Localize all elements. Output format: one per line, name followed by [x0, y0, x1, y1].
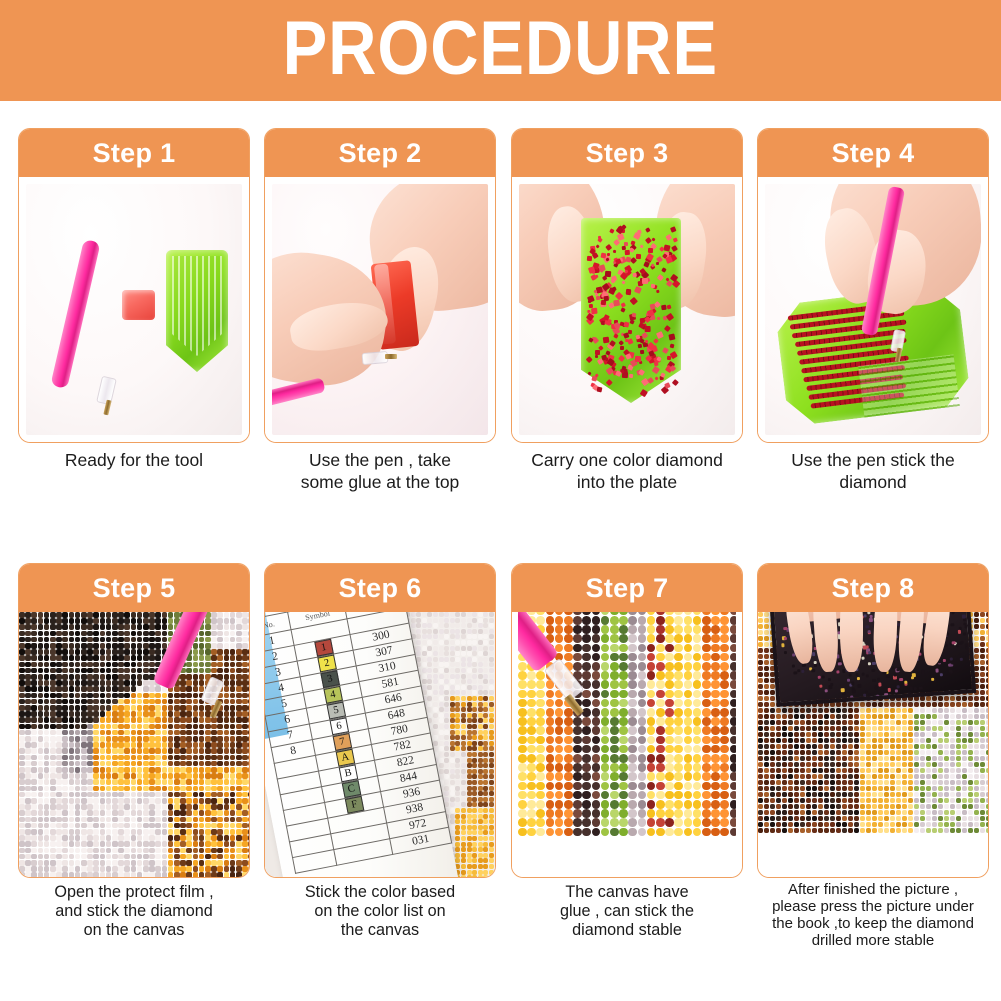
- diamond-bead: [555, 800, 564, 809]
- diamond-bead: [467, 780, 472, 785]
- diamond-bead: [546, 616, 555, 625]
- diamond-bead: [112, 637, 118, 643]
- diamond-bead: [69, 761, 75, 767]
- diamond-bead: [162, 742, 168, 748]
- diamond-bead: [478, 634, 483, 639]
- step-badge-label: Step 2: [339, 140, 422, 167]
- diamond-bead: [455, 797, 460, 802]
- diamond-bead: [143, 792, 149, 798]
- diamond-bead: [50, 693, 56, 699]
- diamond-bead: [44, 841, 50, 847]
- diamond-bead: [186, 748, 192, 754]
- diamond-bead: [87, 693, 93, 699]
- diamond-bead: [582, 625, 591, 634]
- diamond-bead: [174, 817, 180, 823]
- diamond-bead: [564, 634, 573, 643]
- diamond-bead: [106, 624, 112, 630]
- diamond-bead: [230, 866, 236, 872]
- diamond-bead: [720, 662, 729, 671]
- diamond-bead: [25, 860, 31, 866]
- diamond-bead: [472, 819, 477, 824]
- diamond-bead: [483, 707, 488, 712]
- diamond-bead: [50, 848, 56, 854]
- diamond-bead: [38, 848, 44, 854]
- diamond-bead: [472, 674, 477, 679]
- diamond-bead: [489, 724, 494, 729]
- diamond-bead: [112, 717, 118, 723]
- diamond-bead: [236, 693, 242, 699]
- diamond-bead: [472, 651, 477, 656]
- diamond-bead: [112, 612, 118, 618]
- diamond-bead: [433, 634, 438, 639]
- diamond-bead: [205, 631, 211, 637]
- diamond-bead: [149, 668, 155, 674]
- diamond-bead: [62, 637, 68, 643]
- diamond-bead: [665, 726, 674, 735]
- diamond-bead: [224, 711, 230, 717]
- diamond-bead: [106, 637, 112, 643]
- diamond-bead: [69, 823, 75, 829]
- diamond-bead: [155, 649, 161, 655]
- diamond-bead: [38, 786, 44, 792]
- diamond-bead: [38, 761, 44, 767]
- diamond-bead: [478, 662, 483, 667]
- diamond-bead: [450, 808, 455, 813]
- diamond-bead: [450, 646, 455, 651]
- diamond-bead: [199, 662, 205, 668]
- diamond-bead: [25, 872, 31, 877]
- diamond-bead: [800, 708, 805, 713]
- diamond-bead: [478, 623, 483, 628]
- diamond-bead: [628, 782, 637, 791]
- diamond-bead: [38, 817, 44, 823]
- diamond-bead: [118, 804, 124, 810]
- diamond-bead: [956, 714, 961, 719]
- diamond-bead: [112, 792, 118, 798]
- diamond-bead: [31, 798, 37, 804]
- diamond-bead: [483, 730, 488, 735]
- diamond-bead: [702, 671, 711, 680]
- diamond-bead: [878, 714, 883, 719]
- diamond-bead: [461, 836, 466, 841]
- diamond-bead: [186, 823, 192, 829]
- diamond-bead: [230, 736, 236, 742]
- diamond-bead: [950, 708, 955, 713]
- loose-red-diamonds: [581, 222, 681, 402]
- diamond-bead: [467, 707, 472, 712]
- diamond-bead: [137, 810, 143, 816]
- diamond-bead: [974, 630, 979, 635]
- diamond-bead: [902, 732, 907, 737]
- diamond-bead: [230, 767, 236, 773]
- diamond-bead: [124, 755, 130, 761]
- diamond-bead: [461, 786, 466, 791]
- diamond-bead: [582, 708, 591, 717]
- diamond-bead: [69, 736, 75, 742]
- diamond-bead: [720, 653, 729, 662]
- diamond-bead: [217, 618, 223, 624]
- diamond-bead: [461, 842, 466, 847]
- scene-carry-diamonds: [519, 184, 735, 435]
- diamond-bead: [848, 714, 853, 719]
- diamond-bead: [489, 612, 494, 617]
- diamond-bead: [764, 720, 769, 725]
- diamond-bead: [168, 810, 174, 816]
- diamond-bead: [106, 655, 112, 661]
- diamond-bead: [168, 773, 174, 779]
- diamond-bead: [118, 631, 124, 637]
- diamond-bead: [193, 810, 199, 816]
- diamond-bead: [137, 643, 143, 649]
- diamond-bead: [75, 612, 81, 618]
- diamond-bead: [472, 724, 477, 729]
- diamond-bead: [162, 755, 168, 761]
- diamond-bead: [564, 745, 573, 754]
- diamond-bead: [610, 625, 619, 634]
- diamond-bead: [100, 705, 106, 711]
- diamond-bead: [422, 618, 427, 623]
- diamond-bead: [143, 835, 149, 841]
- diamond-bead: [764, 636, 769, 641]
- diamond-bead: [920, 702, 925, 707]
- diamond-bead: [926, 726, 931, 731]
- diamond-bead: [890, 726, 895, 731]
- diamond-bead: [217, 649, 223, 655]
- diamond-bead: [444, 646, 449, 651]
- diamond-bead: [193, 841, 199, 847]
- diamond-bead: [444, 685, 449, 690]
- diamond-bead: [100, 854, 106, 860]
- diamond-bead: [242, 829, 248, 835]
- diamond-bead: [546, 708, 555, 717]
- diamond-bead: [236, 686, 242, 692]
- diamond-bead: [56, 711, 62, 717]
- diamond-bead: [914, 726, 919, 731]
- diamond-bead: [472, 634, 477, 639]
- diamond-bead: [217, 730, 223, 736]
- diamond-bead: [180, 829, 186, 835]
- diamond-bead: [455, 791, 460, 796]
- diamond-bead: [112, 748, 118, 754]
- diamond-bead: [205, 804, 211, 810]
- diamond-bead: [764, 678, 769, 683]
- diamond-bead: [162, 717, 168, 723]
- diamond-bead: [100, 748, 106, 754]
- diamond-bead: [87, 637, 93, 643]
- diamond-bead: [174, 736, 180, 742]
- diamond-bead: [193, 848, 199, 854]
- diamond-bead: [143, 798, 149, 804]
- diamond-bead: [619, 671, 628, 680]
- diamond-bead: [112, 866, 118, 872]
- diamond-bead: [211, 817, 217, 823]
- diamond-bead: [230, 618, 236, 624]
- diamond-bead: [217, 668, 223, 674]
- diamond-bead: [137, 668, 143, 674]
- diamond-bead: [236, 637, 242, 643]
- diamond-bead: [143, 637, 149, 643]
- diamond-bead: [50, 643, 56, 649]
- diamond-bead: [665, 736, 674, 745]
- diamond-bead: [44, 761, 50, 767]
- diamond-bead: [106, 724, 112, 730]
- diamond-bead: [149, 761, 155, 767]
- diamond-bead: [81, 767, 87, 773]
- diamond-bead: [224, 829, 230, 835]
- diamond-bead: [467, 679, 472, 684]
- diamond-bead: [866, 702, 871, 707]
- diamond-bead: [75, 724, 81, 730]
- diamond-bead: [661, 372, 666, 377]
- diamond-bead: [782, 720, 787, 725]
- diamond-bead: [44, 662, 50, 668]
- diamond-bead: [236, 761, 242, 767]
- diamond-bead: [702, 818, 711, 827]
- diamond-bead: [236, 618, 242, 624]
- diamond-bead: [155, 823, 161, 829]
- diamond-bead: [193, 655, 199, 661]
- diamond-bead: [62, 730, 68, 736]
- diamond-bead: [478, 707, 483, 712]
- diamond-bead: [50, 786, 56, 792]
- diamond-bead: [450, 685, 455, 690]
- diamond-bead: [174, 755, 180, 761]
- diamond-bead: [81, 773, 87, 779]
- step-cell-4: Step 4: [757, 128, 989, 558]
- diamond-bead: [69, 711, 75, 717]
- diamond-bead: [467, 662, 472, 667]
- diamond-bead: [962, 732, 967, 737]
- diamond-bead: [131, 767, 137, 773]
- diamond-bead: [665, 754, 674, 763]
- diamond-bead: [629, 319, 635, 325]
- diamond-bead: [174, 686, 180, 692]
- diamond-bead: [205, 835, 211, 841]
- diamond-bead: [649, 303, 655, 309]
- diamond-bead: [974, 618, 979, 623]
- diamond-bead: [483, 674, 488, 679]
- diamond-bead: [427, 657, 432, 662]
- diamond-bead: [628, 699, 637, 708]
- diamond-bead: [230, 705, 236, 711]
- diamond-bead: [100, 755, 106, 761]
- diamond-bead: [536, 772, 545, 781]
- diamond-bead: [217, 748, 223, 754]
- diamond-bead: [854, 726, 859, 731]
- diamond-bead: [25, 748, 31, 754]
- diamond-bead: [467, 640, 472, 645]
- diamond-bead: [69, 637, 75, 643]
- diamond-bead: [674, 717, 683, 726]
- diamond-bead: [69, 792, 75, 798]
- diamond-bead: [248, 761, 249, 767]
- diamond-bead: [467, 690, 472, 695]
- diamond-bead: [884, 732, 889, 737]
- diamond-bead: [124, 798, 130, 804]
- diamond-bead: [62, 872, 68, 877]
- diamond-bead: [162, 810, 168, 816]
- diamond-bead: [684, 717, 693, 726]
- diamond-bead: [149, 810, 155, 816]
- diamond-bead: [162, 854, 168, 860]
- diamond-bead: [422, 640, 427, 645]
- step-badge-label: Step 5: [93, 575, 176, 602]
- diamond-bead: [467, 769, 472, 774]
- diamond-bead: [50, 736, 56, 742]
- diamond-bead: [131, 680, 137, 686]
- diamond-bead: [489, 629, 494, 634]
- diamond-bead: [427, 702, 432, 707]
- diamond-bead: [131, 655, 137, 661]
- diamond-bead: [467, 814, 472, 819]
- diamond-bead: [932, 732, 937, 737]
- diamond-bead: [656, 625, 665, 634]
- diamond-bead: [483, 836, 488, 841]
- diamond-bead: [93, 742, 99, 748]
- diamond-bead: [124, 761, 130, 767]
- diamond-bead: [224, 631, 230, 637]
- diamond-bead: [926, 714, 931, 719]
- diamond-bead: [674, 818, 683, 827]
- diamond-bead: [638, 634, 647, 643]
- diamond-bead: [980, 714, 985, 719]
- diamond-bead: [986, 648, 988, 653]
- diamond-bead: [758, 642, 763, 647]
- diamond-bead: [702, 653, 711, 662]
- diamond-bead: [25, 742, 31, 748]
- diamond-bead: [69, 674, 75, 680]
- diamond-bead: [670, 226, 676, 232]
- diamond-bead: [455, 735, 460, 740]
- diamond-bead: [467, 830, 472, 835]
- diamond-bead: [236, 680, 242, 686]
- diamond-bead: [439, 657, 444, 662]
- diamond-bead: [69, 798, 75, 804]
- diamond-bead: [44, 631, 50, 637]
- diamond-bead: [635, 355, 641, 361]
- diamond-bead: [69, 693, 75, 699]
- diamond-bead: [31, 668, 37, 674]
- diamond-bead: [974, 696, 979, 701]
- diamond-bead: [764, 702, 769, 707]
- diamond-bead: [87, 686, 93, 692]
- diamond-bead: [920, 720, 925, 725]
- diamond-bead: [131, 872, 137, 877]
- diamond-bead: [776, 708, 781, 713]
- diamond-bead: [118, 767, 124, 773]
- diamond-bead: [242, 742, 248, 748]
- diamond-bead: [536, 699, 545, 708]
- diamond-bead: [31, 711, 37, 717]
- diamond-bead: [248, 693, 249, 699]
- diamond-bead: [106, 612, 112, 618]
- step-caption-1: Ready for the tool: [18, 450, 250, 472]
- diamond-bead: [711, 634, 720, 643]
- diamond-bead: [75, 835, 81, 841]
- diamond-bead: [118, 823, 124, 829]
- diamond-bead: [693, 690, 702, 699]
- diamond-bead: [38, 730, 44, 736]
- diamond-bead: [162, 736, 168, 742]
- diamond-bead: [118, 730, 124, 736]
- diamond-bead: [986, 690, 988, 695]
- diamond-bead: [100, 866, 106, 872]
- diamond-bead: [25, 674, 31, 680]
- diamond-bead: [555, 745, 564, 754]
- diamond-bead: [638, 717, 647, 726]
- diamond-bead: [444, 668, 449, 673]
- diamond-bead: [199, 767, 205, 773]
- diamond-bead: [582, 634, 591, 643]
- diamond-bead: [242, 767, 248, 773]
- diamond-bead: [878, 732, 883, 737]
- diamond-bead: [450, 674, 455, 679]
- diamond-bead: [711, 726, 720, 735]
- diamond-bead: [56, 755, 62, 761]
- diamond-bead: [628, 616, 637, 625]
- diamond-bead: [461, 718, 466, 723]
- diamond-bead: [986, 720, 988, 725]
- diamond-bead: [461, 853, 466, 858]
- diamond-bead: [806, 732, 811, 737]
- diamond-bead: [230, 761, 236, 767]
- diamond-bead: [155, 736, 161, 742]
- diamond-bead: [450, 769, 455, 774]
- diamond-bead: [44, 624, 50, 630]
- diamond-bead: [764, 672, 769, 677]
- diamond-bead: [427, 690, 432, 695]
- diamond-bead: [19, 724, 25, 730]
- diamond-bead: [230, 792, 236, 798]
- diamond-bead: [455, 853, 460, 858]
- diamond-bead: [472, 618, 477, 623]
- diamond-bead: [478, 836, 483, 841]
- diamond-bead: [824, 708, 829, 713]
- diamond-bead: [674, 828, 683, 837]
- diamond-bead: [582, 736, 591, 745]
- diamond-bead: [647, 791, 656, 800]
- diamond-bead: [236, 624, 242, 630]
- diamond-bead: [461, 752, 466, 757]
- diamond-bead: [758, 738, 763, 743]
- diamond-bead: [62, 699, 68, 705]
- diamond-bead: [112, 872, 118, 877]
- diamond-bead: [38, 724, 44, 730]
- diamond-bead: [162, 841, 168, 847]
- diamond-bead: [836, 732, 841, 737]
- diamond-bead: [248, 817, 249, 823]
- diamond-bead: [199, 786, 205, 792]
- diamond-bead: [87, 612, 93, 618]
- diamond-bead: [199, 823, 205, 829]
- diamond-bead: [702, 800, 711, 809]
- diamond-bead: [106, 686, 112, 692]
- diamond-bead: [450, 814, 455, 819]
- diamond-bead: [647, 717, 656, 726]
- diamond-bead: [242, 618, 248, 624]
- diamond-bead: [137, 631, 143, 637]
- diamond-bead: [439, 707, 444, 712]
- diamond-bead: [638, 754, 647, 763]
- diamond-bead: [444, 724, 449, 729]
- diamond-bead: [44, 637, 50, 643]
- diamond-bead: [478, 758, 483, 763]
- diamond-bead: [155, 705, 161, 711]
- diamond-bead: [684, 726, 693, 735]
- diamond-bead: [155, 693, 161, 699]
- diamond-bead: [764, 708, 769, 713]
- diamond-bead: [812, 714, 817, 719]
